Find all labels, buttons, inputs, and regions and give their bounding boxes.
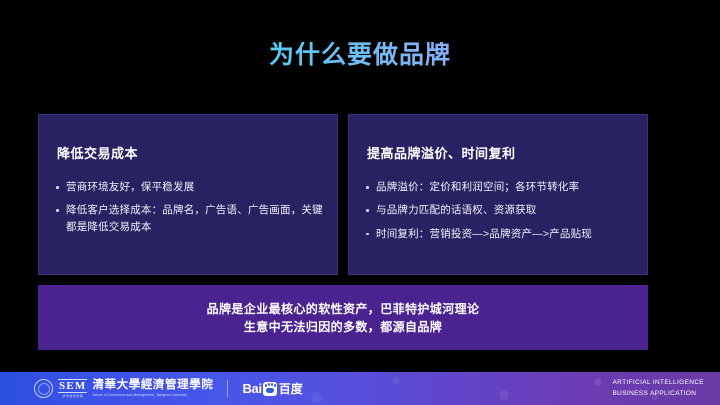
list-item: 降低客户选择成本：品牌名，广告语、广告画面，关键都是降低交易成本 — [55, 202, 327, 235]
sem-name-cn: 清華大學經濟管理學院 — [92, 380, 213, 392]
banner-line: 生意中无法归因的多数，都源自品牌 — [244, 318, 442, 336]
sem-abbr-text: SEM — [58, 379, 87, 393]
sem-name-block: 清華大學經濟管理學院 School of Economics and Manag… — [92, 380, 213, 397]
logo-divider — [227, 380, 228, 397]
sem-abbr-mark: SEM 清华经管学院 — [58, 379, 87, 398]
sem-abbr-cn-text: 清华经管学院 — [62, 395, 83, 398]
baidu-latin-text: Bai — [242, 381, 261, 396]
baidu-logo: Bai 百度 — [242, 380, 302, 397]
footer-tagline: ARTIFICIAL INTELLIGENCE BUSINESS APPLICA… — [613, 372, 705, 405]
tagline-line-2: BUSINESS APPLICATION — [613, 389, 697, 399]
banner-line: 品牌是企业最核心的软性资产，巴菲特护城河理论 — [207, 300, 480, 318]
tsinghua-sem-logo: SEM 清华经管学院 清華大學經濟管理學院 School of Economic… — [34, 379, 213, 398]
list-item: 时间复利：营销投资—>品牌资产—>产品贴现 — [365, 226, 637, 242]
bear-paw-icon — [263, 382, 277, 396]
sem-name-en: School of Economics and Management, Tsin… — [92, 394, 213, 397]
list-item: 与品牌力匹配的话语权、资源获取 — [365, 202, 637, 218]
tagline-line-1: ARTIFICIAL INTELLIGENCE — [613, 378, 705, 388]
page-title: 为什么要做品牌 — [0, 42, 720, 70]
panel-reduce-transaction-cost: 降低交易成本 营商环境友好，保平稳发展 降低客户选择成本：品牌名，广告语、广告画… — [38, 114, 338, 275]
panel-heading: 提高品牌溢价、时间复利 — [367, 143, 633, 162]
footer-logo-group: SEM 清华经管学院 清華大學經濟管理學院 School of Economic… — [34, 372, 303, 405]
slide-canvas: 为什么要做品牌 降低交易成本 营商环境友好，保平稳发展 降低客户选择成本：品牌名… — [0, 0, 720, 405]
panel-heading: 降低交易成本 — [57, 143, 323, 162]
list-item: 品牌溢价：定价和利润空间；各环节转化率 — [365, 179, 637, 195]
panel-brand-premium: 提高品牌溢价、时间复利 品牌溢价：定价和利润空间；各环节转化率 与品牌力匹配的话… — [348, 114, 648, 275]
baidu-cn-text: 百度 — [279, 380, 303, 397]
panel-bullet-list: 营商环境友好，保平稳发展 降低客户选择成本：品牌名，广告语、广告画面，关键都是降… — [55, 179, 327, 242]
footer-bar: SEM 清华经管学院 清華大學經濟管理學院 School of Economic… — [0, 372, 720, 405]
list-item: 营商环境友好，保平稳发展 — [55, 179, 327, 195]
panel-bullet-list: 品牌溢价：定价和利润空间；各环节转化率 与品牌力匹配的话语权、资源获取 时间复利… — [365, 179, 637, 249]
conclusion-banner: 品牌是企业最核心的软性资产，巴菲特护城河理论 生意中无法归因的多数，都源自品牌 — [38, 285, 648, 350]
university-seal-icon — [34, 379, 53, 398]
